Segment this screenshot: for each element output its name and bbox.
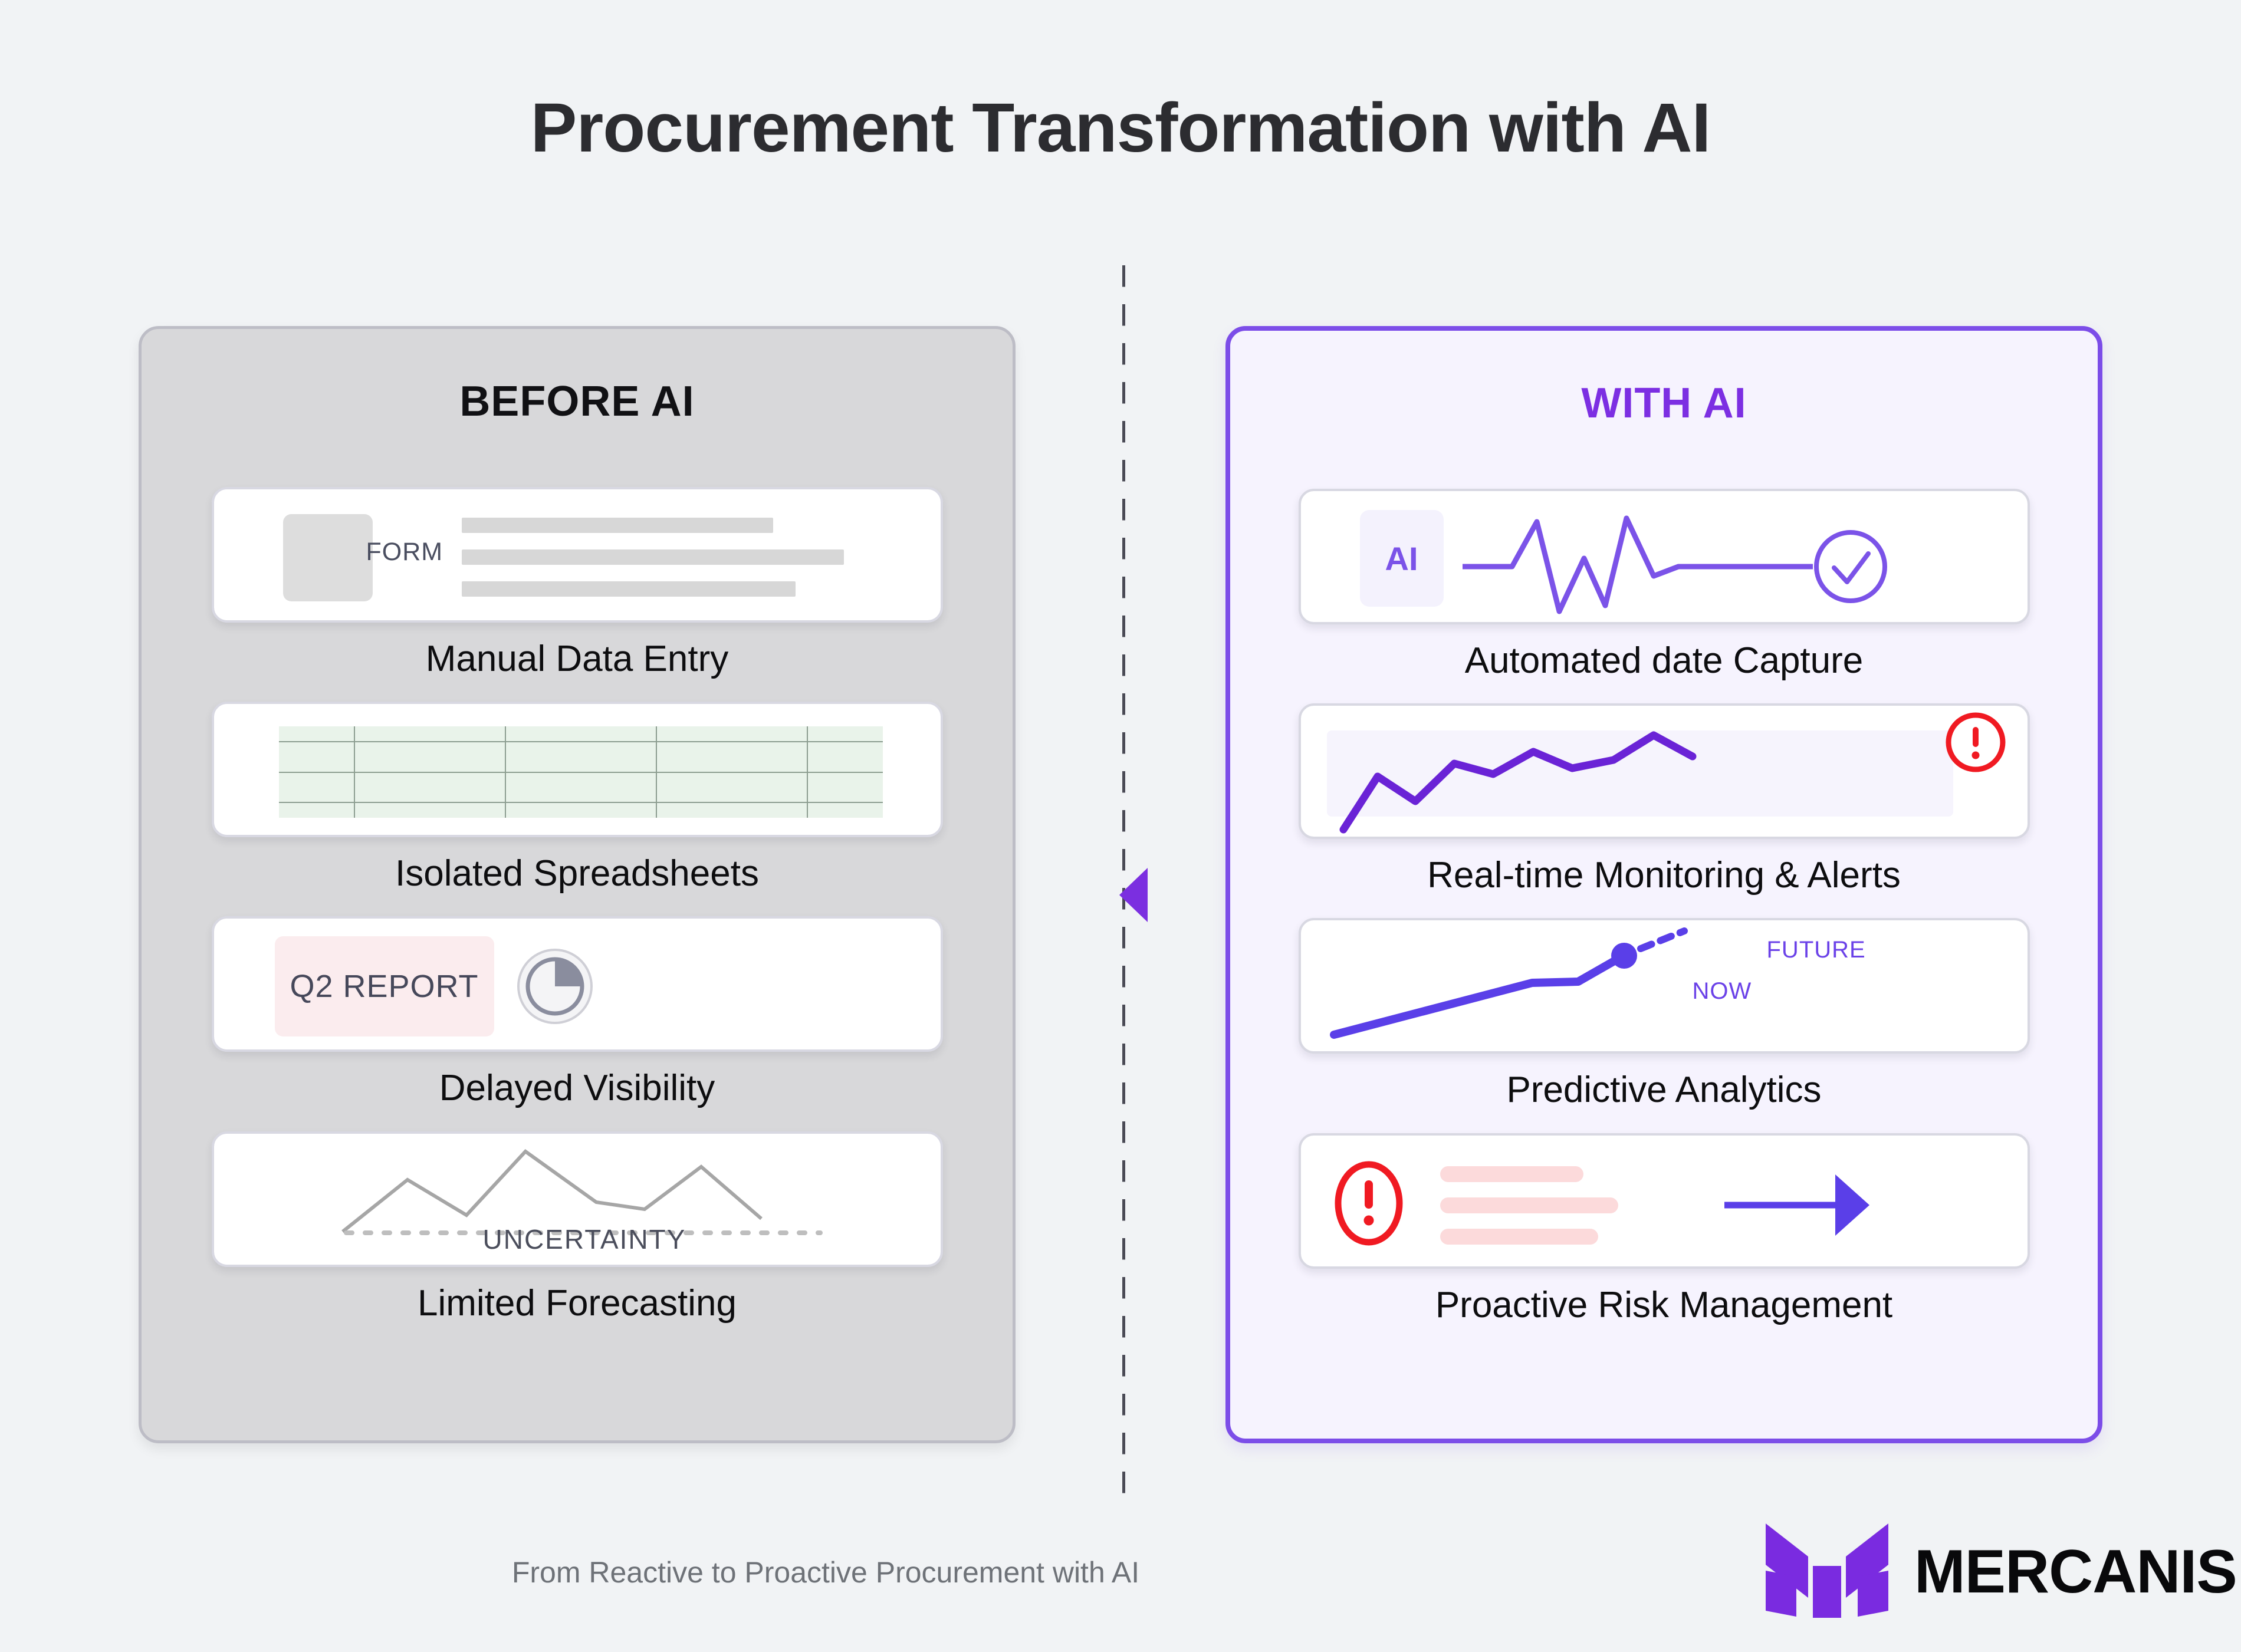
card-block-manual-data-entry: FORM Manual Data Entry [142, 487, 1013, 679]
risk-bar [1440, 1197, 1618, 1213]
delayed-visibility-label: Delayed Visibility [142, 1068, 1013, 1108]
spacer [142, 679, 1013, 702]
realtime-monitoring-card[interactable] [1299, 703, 2030, 839]
predictive-analytics-card[interactable]: FUTURE NOW [1299, 918, 2030, 1054]
card-block-isolated-spreadsheets: Isolated Spreadsheets [142, 702, 1013, 894]
ai-signal-line-icon [1459, 502, 1978, 620]
page-title: Procurement Transformation with AI [0, 88, 2241, 169]
uncertainty-annotation: UNCERTAINTY [483, 1223, 686, 1255]
spacer [1230, 896, 2098, 918]
before-ai-card-stack: FORM Manual Data Entry [142, 487, 1013, 1324]
circle-exclamation-icon [1334, 1159, 1404, 1248]
form-tag-label: FORM [366, 538, 443, 567]
form-line [462, 518, 773, 533]
monitoring-inner-panel [1327, 730, 1953, 817]
form-line [462, 549, 844, 565]
limited-forecasting-label: Limited Forecasting [142, 1284, 1013, 1324]
isolated-spreadsheets-card[interactable] [212, 702, 943, 837]
proactive-risk-label: Proactive Risk Management [1230, 1285, 2098, 1325]
clock-pie-icon [517, 948, 593, 1028]
spreadsheet-grid-icon [279, 726, 883, 818]
risk-bar [1440, 1229, 1598, 1245]
future-annotation: FUTURE [1767, 937, 1866, 963]
with-ai-panel: WITH AI AI Automated date Capture [1225, 326, 2102, 1443]
card-block-delayed-visibility: Q2 REPORT Delayed Visibility [142, 916, 1013, 1108]
infographic-canvas: Procurement Transformation with AI BEFOR… [0, 0, 2241, 1652]
ai-badge: AI [1360, 510, 1444, 607]
with-ai-heading: WITH AI [1230, 379, 2098, 427]
limited-forecasting-card[interactable]: UNCERTAINTY [212, 1131, 943, 1267]
circle-exclamation-icon [1944, 710, 2007, 774]
realtime-monitoring-label: Real-time Monitoring & Alerts [1230, 855, 2098, 896]
brand-name: MERCANIS [1914, 1541, 2237, 1602]
card-block-automated-capture: AI Automated date Capture [1230, 489, 2098, 681]
automated-capture-card[interactable]: AI [1299, 489, 2030, 624]
risk-bar [1440, 1166, 1583, 1182]
left-triangle-marker-icon [1119, 868, 1148, 922]
before-ai-heading: BEFORE AI [142, 377, 1013, 426]
right-arrow-icon [1720, 1164, 1897, 1249]
card-block-predictive-analytics: FUTURE NOW Predictive Analytics [1230, 918, 2098, 1110]
spacer [142, 894, 1013, 916]
proactive-risk-card[interactable] [1299, 1133, 2030, 1269]
mercanis-chevron-logo-icon [1763, 1520, 1891, 1623]
automated-capture-label: Automated date Capture [1230, 641, 2098, 681]
manual-data-entry-card[interactable]: FORM [212, 487, 943, 623]
spacer [142, 1109, 1013, 1131]
predictive-analytics-label: Predictive Analytics [1230, 1070, 2098, 1110]
manual-data-entry-label: Manual Data Entry [142, 639, 1013, 679]
card-block-proactive-risk: Proactive Risk Management [1230, 1133, 2098, 1325]
spacer [1230, 1111, 2098, 1133]
now-annotation: NOW [1693, 978, 1752, 1005]
footer-caption: From Reactive to Proactive Procurement w… [0, 1555, 1651, 1590]
before-ai-panel: BEFORE AI FORM Manual Data Entry [139, 326, 1016, 1443]
isolated-spreadsheets-label: Isolated Spreadsheets [142, 854, 1013, 894]
delayed-visibility-card[interactable]: Q2 REPORT [212, 916, 943, 1052]
form-text-lines [462, 518, 844, 613]
with-ai-card-stack: AI Automated date Capture [1230, 489, 2098, 1325]
spacer [1230, 681, 2098, 703]
card-block-realtime-monitoring: Real-time Monitoring & Alerts [1230, 703, 2098, 896]
form-placeholder-box [283, 514, 373, 601]
monitoring-trend-line-icon [1339, 720, 1946, 841]
q2-report-chip: Q2 REPORT [275, 936, 494, 1036]
data-point-dot [1611, 943, 1637, 969]
form-line [462, 581, 796, 597]
brand-lockup: MERCANIS [1763, 1520, 2237, 1623]
risk-item-bars [1440, 1166, 1618, 1260]
card-block-limited-forecasting: UNCERTAINTY Limited Forecasting [142, 1131, 1013, 1324]
